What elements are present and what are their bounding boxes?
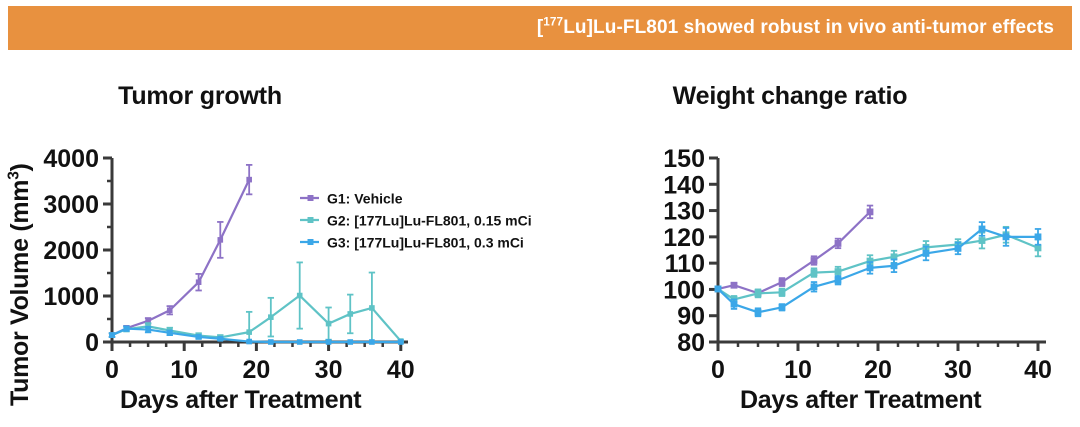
data-point-marker	[955, 245, 962, 252]
y-tick-label: 120	[663, 224, 705, 252]
data-point-marker	[326, 321, 332, 327]
x-tick-label: 0	[711, 356, 725, 384]
series-g1	[715, 206, 874, 297]
series-line	[718, 229, 1038, 312]
data-point-marker	[979, 226, 986, 233]
data-point-marker	[246, 177, 252, 183]
data-point-marker	[268, 339, 274, 345]
x-tick-label: 20	[864, 356, 892, 384]
tumor-growth-plot: 01000200030004000010203040G1: VehicleG2:…	[0, 56, 540, 427]
data-point-marker	[779, 279, 786, 286]
y-tick-label: 110	[665, 250, 705, 278]
x-tick-label: 10	[784, 356, 812, 384]
y-tick-label: 140	[663, 171, 705, 199]
data-point-marker	[811, 269, 818, 276]
data-point-marker	[779, 289, 786, 296]
data-point-marker	[891, 262, 898, 269]
data-point-marker	[715, 286, 722, 293]
legend-label: G2: [177Lu]Lu-FL801, 0.15 mCi	[327, 213, 532, 229]
x-tick-label: 0	[105, 356, 119, 384]
data-point-marker	[979, 237, 986, 244]
data-point-marker	[867, 264, 874, 271]
error-bar	[246, 312, 252, 342]
y-tick-label: 3000	[43, 191, 99, 219]
isotope-superscript: 177	[543, 16, 563, 29]
data-point-marker	[217, 237, 223, 243]
y-tick-label: 130	[663, 198, 705, 226]
data-point-marker	[297, 293, 303, 299]
y-tick-label: 0	[85, 329, 99, 357]
data-point-marker	[835, 268, 842, 275]
x-tick-label: 30	[944, 356, 972, 384]
data-point-marker	[196, 334, 202, 340]
header-banner: [177Lu]Lu-FL801 showed robust in vivo an…	[8, 6, 1072, 50]
data-point-marker	[867, 208, 874, 215]
data-point-marker	[1003, 233, 1010, 240]
data-point-marker	[167, 330, 173, 336]
data-point-marker	[145, 327, 151, 333]
x-tick-label: 10	[170, 356, 198, 384]
panel-weight-change: Weight change ratio Body Weight Change (…	[540, 56, 1080, 427]
data-point-marker	[811, 283, 818, 290]
legend-swatch-marker	[308, 217, 314, 223]
data-point-marker	[347, 311, 353, 317]
series-g3	[715, 222, 1042, 316]
legend-swatch-marker	[308, 239, 314, 245]
data-point-marker	[369, 339, 375, 345]
data-point-marker	[196, 279, 202, 285]
data-point-marker	[268, 314, 274, 320]
data-point-marker	[124, 326, 130, 332]
legend-label: G1: Vehicle	[327, 191, 403, 207]
data-point-marker	[398, 339, 404, 345]
y-tick-label: 4000	[43, 145, 99, 173]
x-tick-label: 20	[242, 356, 270, 384]
data-point-marker	[109, 332, 115, 338]
data-point-marker	[1035, 233, 1042, 240]
panel-tumor-growth: Tumor growth Tumor Volume (mm3) Days aft…	[0, 56, 540, 427]
series-line	[112, 329, 401, 342]
data-point-marker	[835, 277, 842, 284]
banner-title: [177Lu]Lu-FL801 showed robust in vivo an…	[537, 17, 1054, 39]
y-tick-label: 80	[677, 329, 705, 357]
weight-change-plot: 8090100110120130140150010203040	[540, 56, 1080, 427]
data-point-marker	[835, 240, 842, 247]
data-point-marker	[167, 307, 173, 313]
data-point-marker	[369, 305, 375, 311]
data-point-marker	[755, 290, 762, 297]
data-point-marker	[217, 336, 223, 342]
y-tick-label: 90	[677, 303, 705, 331]
y-tick-label: 150	[663, 145, 705, 173]
y-tick-label: 100	[663, 276, 705, 304]
x-tick-label: 40	[387, 356, 415, 384]
y-tick-label: 1000	[43, 283, 99, 311]
legend-swatch-marker	[308, 195, 314, 201]
data-point-marker	[755, 309, 762, 316]
data-point-marker	[923, 250, 930, 257]
data-point-marker	[297, 339, 303, 345]
series-g2	[109, 262, 404, 343]
data-point-marker	[731, 301, 738, 308]
chart-legend: G1: VehicleG2: [177Lu]Lu-FL801, 0.15 mCi…	[300, 191, 532, 251]
series-g1	[109, 165, 253, 338]
data-point-marker	[246, 329, 252, 335]
data-point-marker	[347, 339, 353, 345]
series-line	[112, 180, 249, 335]
x-tick-label: 40	[1024, 356, 1052, 384]
series-line	[718, 212, 870, 293]
data-point-marker	[246, 339, 252, 345]
data-point-marker	[731, 282, 738, 289]
data-point-marker	[779, 304, 786, 311]
data-point-marker	[326, 339, 332, 345]
legend-label: G3: [177Lu]Lu-FL801, 0.3 mCi	[327, 235, 524, 251]
x-tick-label: 30	[315, 356, 343, 384]
data-point-marker	[811, 257, 818, 264]
y-tick-label: 2000	[43, 237, 99, 265]
banner-main-text: Lu]Lu-FL801 showed robust in vivo anti-t…	[563, 17, 1054, 38]
